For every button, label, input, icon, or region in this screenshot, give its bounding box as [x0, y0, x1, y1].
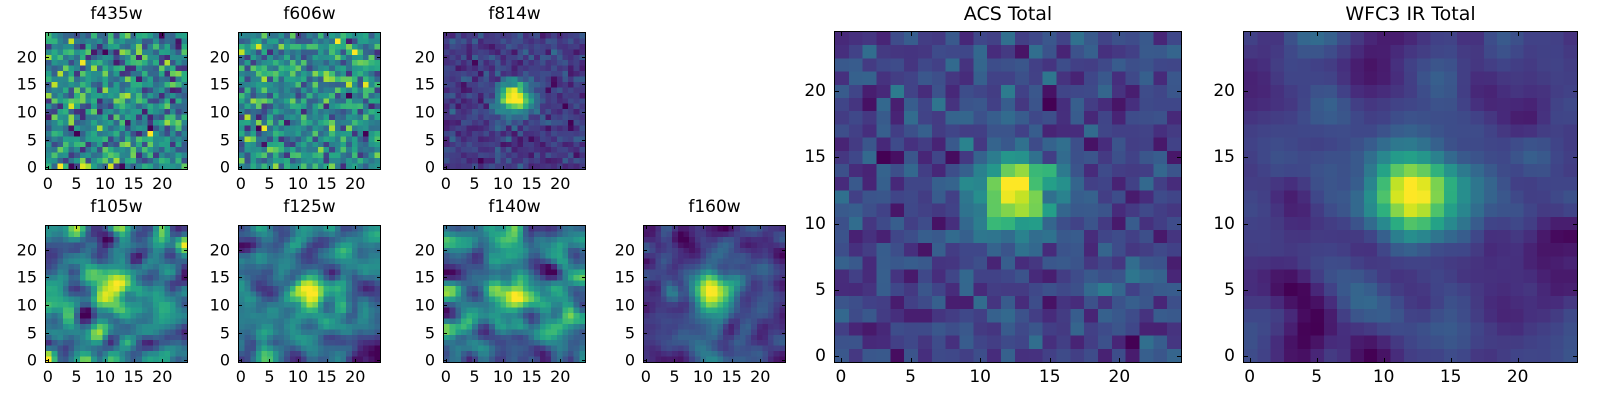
xticklabel-f125w-0: 0	[236, 367, 246, 386]
xtick-acs-total-2	[980, 358, 981, 363]
ytick-right-acs-total-2	[1177, 224, 1182, 225]
ytick-f105w-3	[45, 277, 49, 278]
ytick-right-f140w-0	[582, 360, 586, 361]
heatmap-wfc3-ir-total	[1244, 32, 1577, 362]
xticklabel-f606w-1: 5	[264, 174, 274, 193]
ytick-wfc3-ir-total-4	[1243, 91, 1248, 92]
xtick-top-f606w-3	[327, 32, 328, 36]
xticklabel-f814w-0: 0	[441, 174, 451, 193]
ytick-right-f814w-2	[582, 112, 586, 113]
xtick-f105w-3	[134, 359, 135, 363]
xtick-top-f125w-0	[241, 225, 242, 229]
ytick-right-f105w-1	[184, 333, 188, 334]
ytick-right-wfc3-ir-total-1	[1573, 290, 1578, 291]
ytick-right-f435w-1	[184, 140, 188, 141]
ytick-acs-total-1	[834, 290, 839, 291]
ytick-right-f105w-0	[184, 360, 188, 361]
xtick-top-f125w-2	[298, 225, 299, 229]
xtick-top-f435w-2	[105, 32, 106, 36]
xtick-f435w-1	[76, 166, 77, 170]
xtick-acs-total-1	[911, 358, 912, 363]
ytick-f160w-0	[643, 360, 647, 361]
ytick-right-f160w-4	[782, 250, 786, 251]
xtick-top-f814w-2	[503, 32, 504, 36]
xtick-wfc3-ir-total-0	[1250, 358, 1251, 363]
ytick-wfc3-ir-total-0	[1243, 356, 1248, 357]
ytick-f105w-1	[45, 333, 49, 334]
axes-f105w	[45, 225, 188, 363]
heatmap-f105w	[46, 226, 187, 362]
ytick-f140w-4	[443, 250, 447, 251]
ytick-right-f606w-3	[377, 84, 381, 85]
ytick-f435w-0	[45, 167, 49, 168]
xticklabel-f140w-2: 10	[493, 367, 513, 386]
ytick-f160w-1	[643, 333, 647, 334]
ytick-acs-total-0	[834, 356, 839, 357]
ytick-f140w-2	[443, 305, 447, 306]
xtick-f435w-3	[134, 166, 135, 170]
panel-title-f105w: f105w	[45, 197, 188, 217]
ytick-right-f105w-4	[184, 250, 188, 251]
xticklabel-f105w-3: 15	[123, 367, 143, 386]
xtick-f814w-3	[532, 166, 533, 170]
xtick-f140w-2	[503, 359, 504, 363]
xtick-f160w-1	[674, 359, 675, 363]
xticklabel-f435w-4: 20	[152, 174, 172, 193]
heatmap-f160w	[644, 226, 785, 362]
xtick-top-f606w-2	[298, 32, 299, 36]
ytick-f125w-0	[238, 360, 242, 361]
ytick-right-f435w-3	[184, 84, 188, 85]
xticklabel-acs-total-2: 10	[969, 367, 991, 387]
xtick-f125w-1	[269, 359, 270, 363]
xticklabel-f125w-3: 15	[316, 367, 336, 386]
ytick-right-f105w-2	[184, 305, 188, 306]
xtick-top-f125w-1	[269, 225, 270, 229]
xtick-f160w-2	[703, 359, 704, 363]
xtick-top-acs-total-0	[841, 31, 842, 36]
xticklabel-f160w-2: 10	[693, 367, 713, 386]
ytick-f125w-3	[238, 277, 242, 278]
xtick-top-wfc3-ir-total-3	[1451, 31, 1452, 36]
ytick-acs-total-2	[834, 224, 839, 225]
xticklabel-f814w-1: 5	[469, 174, 479, 193]
ytick-right-f105w-3	[184, 277, 188, 278]
xtick-top-acs-total-3	[1050, 31, 1051, 36]
ytick-wfc3-ir-total-3	[1243, 157, 1248, 158]
xtick-top-f814w-0	[446, 32, 447, 36]
xtick-top-wfc3-ir-total-0	[1250, 31, 1251, 36]
xtick-top-f140w-1	[474, 225, 475, 229]
ytick-right-f435w-4	[184, 57, 188, 58]
panel-title-f140w: f140w	[443, 197, 586, 217]
xtick-top-f435w-4	[162, 32, 163, 36]
ytick-right-f160w-2	[782, 305, 786, 306]
ytick-right-f125w-3	[377, 277, 381, 278]
xticklabel-f435w-0: 0	[43, 174, 53, 193]
xtick-f814w-1	[474, 166, 475, 170]
axes-f140w	[443, 225, 586, 363]
panel-f435w: f435w0510152005101520	[45, 4, 188, 200]
ytick-right-f125w-2	[377, 305, 381, 306]
panel-title-f125w: f125w	[238, 197, 381, 217]
xtick-top-f160w-1	[674, 225, 675, 229]
xticklabel-f125w-2: 10	[288, 367, 308, 386]
xticklabel-f105w-1: 5	[71, 367, 81, 386]
xtick-f105w-1	[76, 359, 77, 363]
xtick-top-f105w-3	[134, 225, 135, 229]
panel-title-f814w: f814w	[443, 4, 586, 24]
xtick-top-wfc3-ir-total-1	[1317, 31, 1318, 36]
xtick-top-f105w-2	[105, 225, 106, 229]
xticklabel-f160w-3: 15	[721, 367, 741, 386]
ytick-f160w-3	[643, 277, 647, 278]
axes-f606w	[238, 32, 381, 170]
xtick-f814w-2	[503, 166, 504, 170]
ytick-f105w-0	[45, 360, 49, 361]
ytick-f814w-3	[443, 84, 447, 85]
xtick-f105w-2	[105, 359, 106, 363]
ytick-right-f435w-0	[184, 167, 188, 168]
xtick-f125w-2	[298, 359, 299, 363]
ytick-right-f435w-2	[184, 112, 188, 113]
xticklabel-wfc3-ir-total-3: 15	[1440, 367, 1462, 387]
ytick-right-f606w-1	[377, 140, 381, 141]
ytick-f435w-3	[45, 84, 49, 85]
xticklabel-f125w-4: 20	[345, 367, 365, 386]
xtick-top-f160w-2	[703, 225, 704, 229]
ytick-f105w-2	[45, 305, 49, 306]
xtick-top-f606w-1	[269, 32, 270, 36]
ytick-right-wfc3-ir-total-3	[1573, 157, 1578, 158]
xticklabel-f125w-1: 5	[264, 367, 274, 386]
xtick-top-f140w-2	[503, 225, 504, 229]
xtick-f160w-4	[760, 359, 761, 363]
xticklabel-f606w-4: 20	[345, 174, 365, 193]
ytick-right-f814w-1	[582, 140, 586, 141]
xtick-top-f140w-3	[532, 225, 533, 229]
xtick-f435w-2	[105, 166, 106, 170]
axes-f160w	[643, 225, 786, 363]
ytick-right-wfc3-ir-total-2	[1573, 224, 1578, 225]
xticklabel-f435w-2: 10	[95, 174, 115, 193]
xtick-top-f140w-0	[446, 225, 447, 229]
xtick-top-f606w-4	[355, 32, 356, 36]
xtick-f140w-3	[532, 359, 533, 363]
ytick-right-f814w-4	[582, 57, 586, 58]
panel-f140w: f140w0510152005101520	[443, 197, 586, 393]
ytick-right-f125w-0	[377, 360, 381, 361]
xticklabel-acs-total-0: 0	[836, 367, 847, 387]
xtick-f125w-4	[355, 359, 356, 363]
xticklabel-f814w-4: 20	[550, 174, 570, 193]
ytick-right-f160w-1	[782, 333, 786, 334]
ytick-acs-total-3	[834, 157, 839, 158]
ytick-right-f140w-1	[582, 333, 586, 334]
xtick-f140w-1	[474, 359, 475, 363]
heatmap-acs-total	[835, 32, 1181, 362]
panel-f105w: f105w0510152005101520	[45, 197, 188, 393]
xtick-top-f814w-4	[560, 32, 561, 36]
xtick-f606w-4	[355, 166, 356, 170]
xticklabel-f606w-2: 10	[288, 174, 308, 193]
xticklabel-f140w-1: 5	[469, 367, 479, 386]
xtick-top-f606w-0	[241, 32, 242, 36]
xtick-top-f435w-1	[76, 32, 77, 36]
ytick-right-f814w-0	[582, 167, 586, 168]
ytick-f814w-4	[443, 57, 447, 58]
xtick-top-acs-total-4	[1119, 31, 1120, 36]
xticklabel-f606w-0: 0	[236, 174, 246, 193]
ytick-right-acs-total-4	[1177, 91, 1182, 92]
axes-f435w	[45, 32, 188, 170]
xtick-top-acs-total-1	[911, 31, 912, 36]
xtick-acs-total-4	[1119, 358, 1120, 363]
xtick-f140w-4	[560, 359, 561, 363]
xtick-top-f125w-4	[355, 225, 356, 229]
xtick-f606w-1	[269, 166, 270, 170]
panel-f160w: f160w0510152005101520	[643, 197, 786, 393]
xtick-top-f160w-3	[732, 225, 733, 229]
xtick-top-f105w-0	[48, 225, 49, 229]
xtick-top-f140w-4	[560, 225, 561, 229]
xtick-acs-total-3	[1050, 358, 1051, 363]
heatmap-f140w	[444, 226, 585, 362]
ytick-wfc3-ir-total-2	[1243, 224, 1248, 225]
ytick-f814w-2	[443, 112, 447, 113]
ytick-f435w-4	[45, 57, 49, 58]
ytick-f125w-4	[238, 250, 242, 251]
axes-wfc3-ir-total	[1243, 31, 1578, 363]
ytick-right-acs-total-0	[1177, 356, 1182, 357]
ytick-f814w-0	[443, 167, 447, 168]
ytick-right-f140w-4	[582, 250, 586, 251]
panel-title-f160w: f160w	[643, 197, 786, 217]
ytick-right-wfc3-ir-total-0	[1573, 356, 1578, 357]
xtick-f606w-3	[327, 166, 328, 170]
xtick-top-f435w-3	[134, 32, 135, 36]
ytick-f160w-2	[643, 305, 647, 306]
xticklabel-wfc3-ir-total-2: 10	[1373, 367, 1395, 387]
xticklabel-f140w-3: 15	[521, 367, 541, 386]
ytick-f606w-2	[238, 112, 242, 113]
panel-title-f435w: f435w	[45, 4, 188, 24]
xtick-top-f125w-3	[327, 225, 328, 229]
ytick-f125w-1	[238, 333, 242, 334]
axes-f125w	[238, 225, 381, 363]
xtick-top-f814w-1	[474, 32, 475, 36]
panel-title-acs-total: ACS Total	[834, 3, 1182, 25]
xtick-top-wfc3-ir-total-2	[1384, 31, 1385, 36]
xticklabel-f160w-4: 20	[750, 367, 770, 386]
xtick-f814w-4	[560, 166, 561, 170]
panel-acs-total: ACS Total0510152005101520	[834, 3, 1182, 393]
xticklabel-f140w-4: 20	[550, 367, 570, 386]
xtick-f160w-3	[732, 359, 733, 363]
xticklabel-acs-total-4: 20	[1109, 367, 1131, 387]
xtick-f606w-2	[298, 166, 299, 170]
xtick-top-f160w-0	[646, 225, 647, 229]
ytick-right-f125w-4	[377, 250, 381, 251]
panel-f814w: f814w0510152005101520	[443, 4, 586, 200]
ytick-f125w-2	[238, 305, 242, 306]
panel-title-wfc3-ir-total: WFC3 IR Total	[1243, 3, 1578, 25]
ytick-right-f125w-1	[377, 333, 381, 334]
ytick-right-f140w-3	[582, 277, 586, 278]
ytick-right-f606w-0	[377, 167, 381, 168]
xtick-top-f435w-0	[48, 32, 49, 36]
ytick-f140w-1	[443, 333, 447, 334]
xticklabel-f160w-0: 0	[641, 367, 651, 386]
xticklabel-f105w-4: 20	[152, 367, 172, 386]
xticklabel-wfc3-ir-total-4: 20	[1507, 367, 1529, 387]
ytick-right-f606w-2	[377, 112, 381, 113]
ytick-right-wfc3-ir-total-4	[1573, 91, 1578, 92]
panel-title-f606w: f606w	[238, 4, 381, 24]
panel-wfc3-ir-total: WFC3 IR Total0510152005101520	[1243, 3, 1578, 393]
xticklabel-wfc3-ir-total-1: 5	[1311, 367, 1322, 387]
ytick-f606w-1	[238, 140, 242, 141]
xticklabel-f140w-0: 0	[441, 367, 451, 386]
heatmap-f125w	[239, 226, 380, 362]
ytick-wfc3-ir-total-1	[1243, 290, 1248, 291]
panel-f606w: f606w0510152005101520	[238, 4, 381, 200]
xtick-wfc3-ir-total-3	[1451, 358, 1452, 363]
xticklabel-f105w-0: 0	[43, 367, 53, 386]
axes-acs-total	[834, 31, 1182, 363]
ytick-right-f160w-3	[782, 277, 786, 278]
ytick-f140w-3	[443, 277, 447, 278]
heatmap-f606w	[239, 33, 380, 169]
ytick-f140w-0	[443, 360, 447, 361]
xticklabel-f105w-2: 10	[95, 367, 115, 386]
ytick-right-f140w-2	[582, 305, 586, 306]
xtick-top-f160w-4	[760, 225, 761, 229]
ytick-f814w-1	[443, 140, 447, 141]
xtick-f125w-3	[327, 359, 328, 363]
xtick-top-acs-total-2	[980, 31, 981, 36]
figure-canvas: f435w0510152005101520f606w05101520051015…	[0, 0, 1600, 400]
ytick-f606w-4	[238, 57, 242, 58]
ytick-f435w-2	[45, 112, 49, 113]
ytick-acs-total-4	[834, 91, 839, 92]
xtick-f435w-4	[162, 166, 163, 170]
ytick-right-acs-total-1	[1177, 290, 1182, 291]
xtick-top-f105w-4	[162, 225, 163, 229]
ytick-f606w-0	[238, 167, 242, 168]
xticklabel-f435w-3: 15	[123, 174, 143, 193]
xtick-f105w-4	[162, 359, 163, 363]
ytick-right-acs-total-3	[1177, 157, 1182, 158]
xticklabel-f160w-1: 5	[669, 367, 679, 386]
xticklabel-f814w-2: 10	[493, 174, 513, 193]
xtick-acs-total-0	[841, 358, 842, 363]
ytick-right-f814w-3	[582, 84, 586, 85]
heatmap-f814w	[444, 33, 585, 169]
ytick-f435w-1	[45, 140, 49, 141]
xticklabel-f435w-1: 5	[71, 174, 81, 193]
xtick-wfc3-ir-total-2	[1384, 358, 1385, 363]
ytick-f105w-4	[45, 250, 49, 251]
xtick-top-f105w-1	[76, 225, 77, 229]
heatmap-f435w	[46, 33, 187, 169]
xtick-top-f814w-3	[532, 32, 533, 36]
panel-f125w: f125w0510152005101520	[238, 197, 381, 393]
xticklabel-acs-total-1: 5	[905, 367, 916, 387]
xtick-top-wfc3-ir-total-4	[1518, 31, 1519, 36]
xticklabel-acs-total-3: 15	[1039, 367, 1061, 387]
xticklabel-f606w-3: 15	[316, 174, 336, 193]
ytick-f606w-3	[238, 84, 242, 85]
xtick-wfc3-ir-total-1	[1317, 358, 1318, 363]
xticklabel-wfc3-ir-total-0: 0	[1244, 367, 1255, 387]
axes-f814w	[443, 32, 586, 170]
xtick-wfc3-ir-total-4	[1518, 358, 1519, 363]
xticklabel-f814w-3: 15	[521, 174, 541, 193]
ytick-f160w-4	[643, 250, 647, 251]
ytick-right-f606w-4	[377, 57, 381, 58]
ytick-right-f160w-0	[782, 360, 786, 361]
